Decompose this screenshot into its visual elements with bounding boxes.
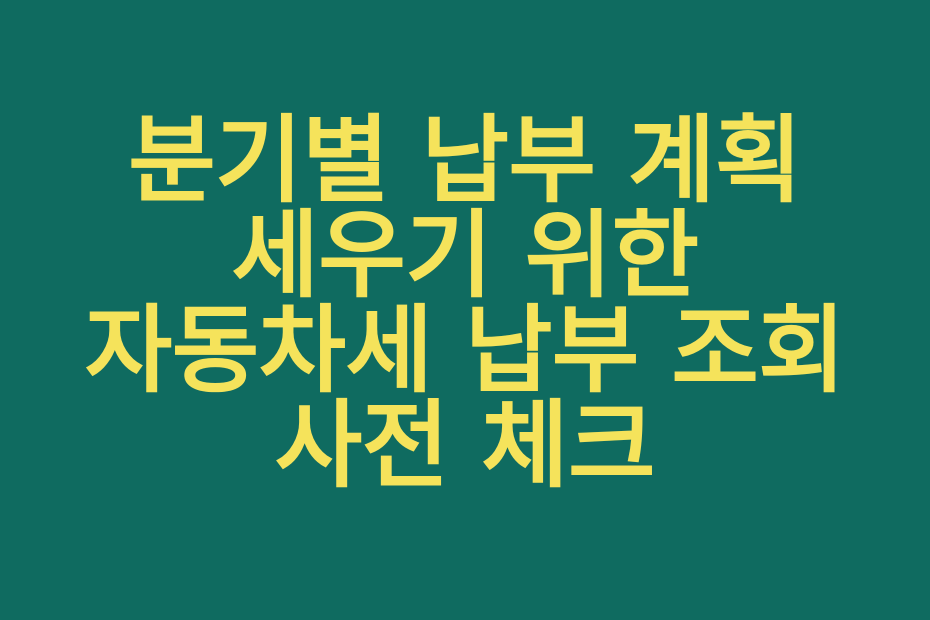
title-text: 분기별 납부 계획 세우기 위한 자동차세 납부 조회 사전 체크 <box>55 114 875 494</box>
thumbnail-canvas: 분기별 납부 계획 세우기 위한 자동차세 납부 조회 사전 체크 <box>0 0 930 620</box>
